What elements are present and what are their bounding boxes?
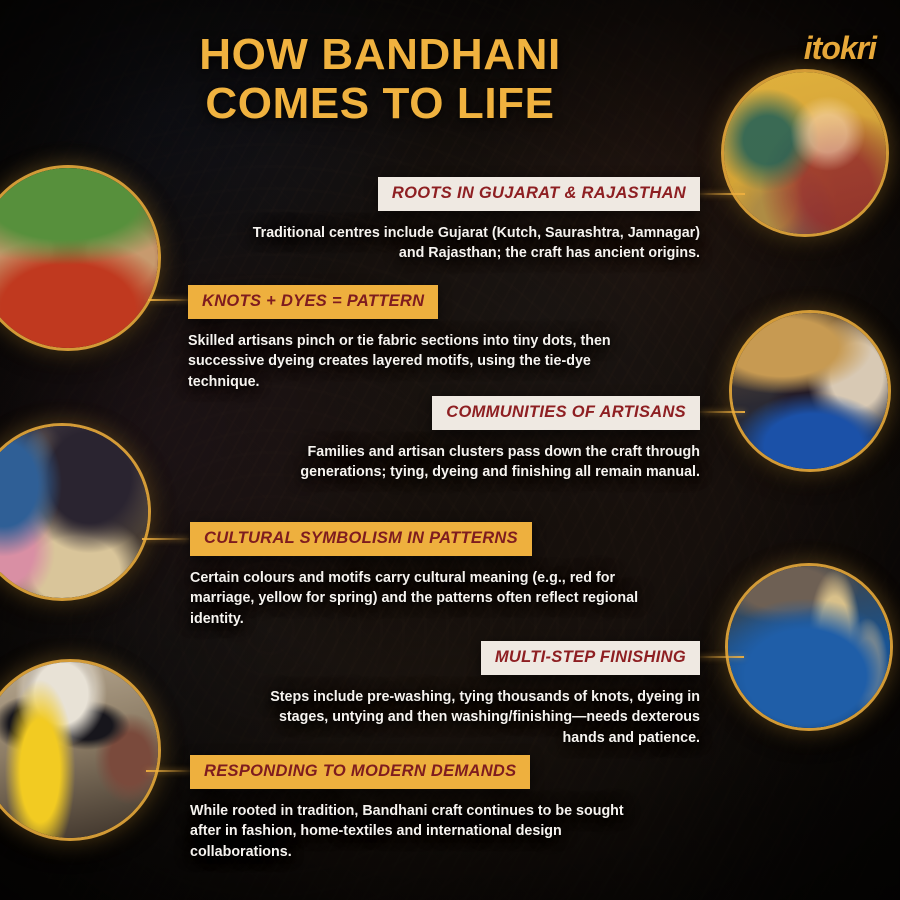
block-body-2: Skilled artisans pinch or tie fabric sec… <box>188 331 658 392</box>
photo-image <box>0 662 158 838</box>
photo-fabric-dipped-in-indigo-vat <box>728 566 890 728</box>
block-heading-2: KNOTS + DYES = PATTERN <box>188 285 438 319</box>
block-heading-6: RESPONDING TO MODERN DEMANDS <box>190 755 530 789</box>
connector-line-3 <box>700 411 745 413</box>
photo-women-with-tied-cream-fabric <box>0 426 148 598</box>
block-body-3: Families and artisan clusters pass down … <box>242 442 700 483</box>
content-block-multi-step-finishing: MULTI-STEP FINISHING Steps include pre-w… <box>256 641 700 748</box>
connector-line-2 <box>148 299 193 301</box>
title-line-1: HOW BANDHANI <box>0 30 760 79</box>
photo-artisan-lifting-yellow-dyed-fabric <box>0 662 158 838</box>
connector-line-6 <box>146 770 192 772</box>
block-heading-1: ROOTS IN GUJARAT & RAJASTHAN <box>378 177 700 211</box>
block-heading-3: COMMUNITIES OF ARTISANS <box>432 396 700 430</box>
block-body-6: While rooted in tradition, Bandhani craf… <box>190 801 652 862</box>
page-title: HOW BANDHANI COMES TO LIFE <box>0 30 760 129</box>
photo-image <box>724 72 886 234</box>
block-body-4: Certain colours and motifs carry cultura… <box>190 568 670 629</box>
title-line-2: COMES TO LIFE <box>0 79 760 128</box>
photo-image <box>732 313 888 469</box>
connector-line-5 <box>697 656 744 658</box>
photo-women-tying-knots-yellow-wall <box>724 72 886 234</box>
block-body-5: Steps include pre-washing, tying thousan… <box>256 687 700 748</box>
content-block-knots-dyes-pattern: KNOTS + DYES = PATTERN Skilled artisans … <box>188 285 658 392</box>
brand-logo: itokri <box>804 30 876 67</box>
block-heading-5: MULTI-STEP FINISHING <box>481 641 700 675</box>
connector-line-1 <box>697 193 745 195</box>
photo-artisan-dyeing-in-blue-tub <box>732 313 888 469</box>
connector-line-4 <box>142 538 189 540</box>
content-block-responding-to-modern-demands: RESPONDING TO MODERN DEMANDS While roote… <box>190 755 652 862</box>
content-block-roots-in-gujarat-rajasthan: ROOTS IN GUJARAT & RAJASTHAN Traditional… <box>238 177 700 264</box>
infographic-poster: HOW BANDHANI COMES TO LIFE itokri ROOTS … <box>0 0 900 900</box>
photo-image <box>0 426 148 598</box>
block-body-1: Traditional centres include Gujarat (Kut… <box>238 223 700 264</box>
photo-image <box>0 168 158 348</box>
photo-image <box>728 566 890 728</box>
content-block-communities-of-artisans: COMMUNITIES OF ARTISANS Families and art… <box>242 396 700 483</box>
content-block-cultural-symbolism-in-patterns: CULTURAL SYMBOLISM IN PATTERNS Certain c… <box>190 522 670 629</box>
photo-hands-tying-red-fabric <box>0 168 158 348</box>
block-heading-4: CULTURAL SYMBOLISM IN PATTERNS <box>190 522 532 556</box>
